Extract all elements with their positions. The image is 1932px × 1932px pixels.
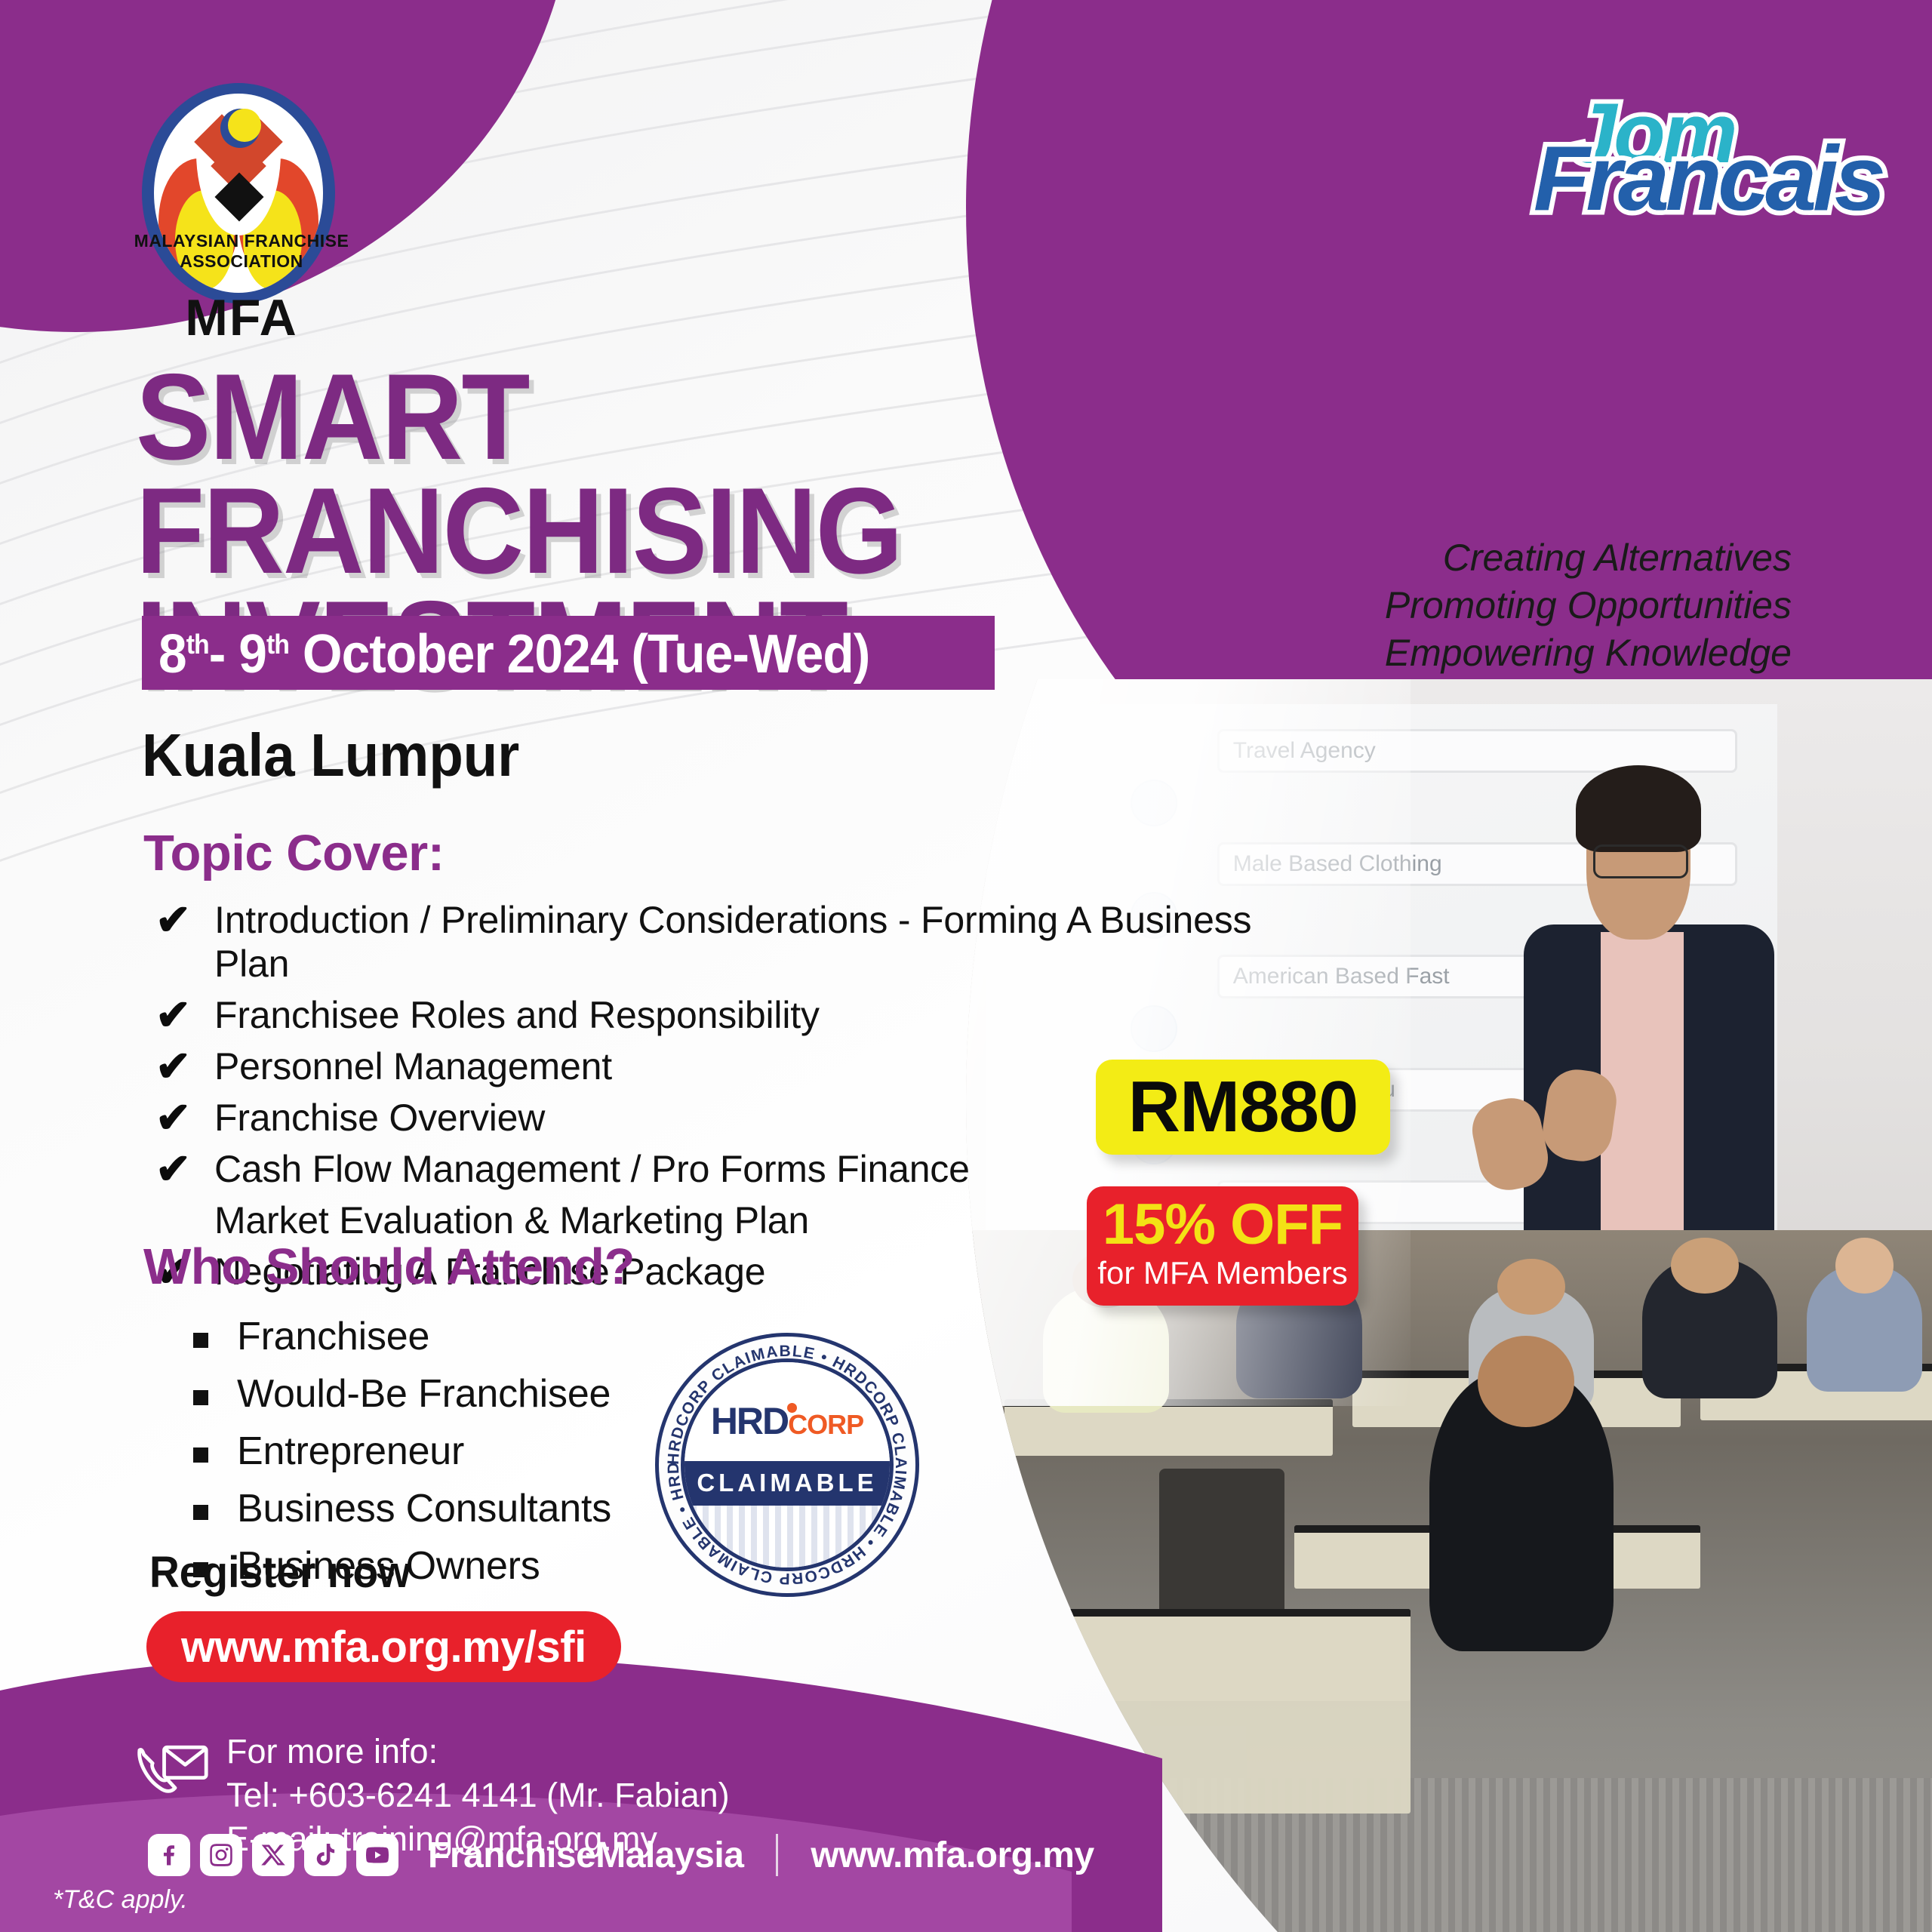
- contact-label: For more info:: [226, 1730, 730, 1774]
- topic-text: Franchise Overview: [214, 1096, 545, 1140]
- social-handle: FranchiseMalaysia: [428, 1835, 743, 1876]
- claimable-text: CLAIMABLE: [697, 1469, 877, 1497]
- price-badge: RM880: [1096, 1060, 1390, 1155]
- register-url-text: www.mfa.org.my/sfi: [181, 1622, 586, 1672]
- discount-headline: 15% OFF: [1087, 1194, 1358, 1256]
- mfa-association-name: MALAYSIAN FRANCHISE ASSOCIATION: [106, 231, 377, 272]
- terms-note: *T&C apply.: [53, 1885, 188, 1915]
- check-icon: ✔: [155, 993, 214, 1037]
- date-day-1: 8: [158, 624, 186, 685]
- discount-subtext: for MFA Members: [1087, 1256, 1358, 1291]
- square-bullet-icon: [193, 1371, 237, 1409]
- instagram-icon[interactable]: [200, 1834, 242, 1876]
- footer-divider: [776, 1834, 778, 1876]
- jom-francais-logo: Jom Jom Francais Francais: [1534, 85, 1888, 211]
- tiktok-icon[interactable]: [304, 1834, 346, 1876]
- square-bullet-icon: [193, 1428, 237, 1466]
- topic-text: Market Evaluation & Marketing Plan: [214, 1198, 809, 1242]
- organisation-tagline: Creating Alternatives Promoting Opportun…: [1385, 534, 1792, 677]
- contact-tel: Tel: +603-6241 4141 (Mr. Fabian): [226, 1774, 730, 1817]
- date-day-1-suffix: th: [186, 629, 209, 660]
- topic-text: Introduction / Preliminary Consideration…: [214, 898, 1257, 986]
- list-item: ✔Introduction / Preliminary Consideratio…: [155, 898, 1257, 986]
- facebook-icon[interactable]: [148, 1834, 190, 1876]
- phone-envelope-icon: [133, 1734, 214, 1807]
- square-bullet-icon: [193, 1313, 237, 1352]
- mfa-abbreviation: MFA: [106, 288, 377, 347]
- francais-text: Francais: [1534, 125, 1882, 231]
- tagline-line-3: Empowering Knowledge: [1385, 629, 1792, 677]
- list-item: ✔Personnel Management: [155, 1044, 1257, 1088]
- topic-cover-heading: Topic Cover:: [143, 824, 445, 882]
- hrd-text: HRD: [711, 1400, 788, 1442]
- attendee-text: Entrepreneur: [237, 1428, 464, 1475]
- event-city: Kuala Lumpur: [142, 721, 519, 790]
- list-item: ✔Cash Flow Management / Pro Forms Financ…: [155, 1147, 1257, 1191]
- youtube-icon[interactable]: [356, 1834, 398, 1876]
- topic-text: Cash Flow Management / Pro Forms Finance: [214, 1147, 970, 1191]
- who-should-attend-heading: Who Should Attend?: [143, 1238, 635, 1296]
- date-rest: October 2024 (Tue-Wed): [289, 624, 869, 685]
- list-item: ✔Franchisee Roles and Responsibility: [155, 993, 1257, 1037]
- x-twitter-icon[interactable]: [252, 1834, 294, 1876]
- date-day-2: 9: [238, 624, 266, 685]
- mfa-logo: MALAYSIAN FRANCHISE ASSOCIATION MFA: [106, 83, 377, 355]
- attendee-text: Business Consultants: [237, 1485, 611, 1532]
- topic-text: Personnel Management: [214, 1044, 612, 1088]
- date-separator: -: [209, 624, 226, 685]
- event-date-banner: 8th- 9th October 2024 (Tue-Wed): [142, 616, 995, 690]
- register-url-button[interactable]: www.mfa.org.my/sfi: [146, 1611, 621, 1682]
- list-item: ✔Franchise Overview: [155, 1096, 1257, 1140]
- tagline-line-2: Promoting Opportunities: [1385, 582, 1792, 629]
- attendee-text: Franchisee: [237, 1313, 429, 1360]
- price-amount: RM880: [1128, 1066, 1358, 1149]
- register-label: Register now: [149, 1547, 411, 1598]
- check-icon: ✔: [155, 1147, 214, 1191]
- poster-canvas: Travel Agency Male Based Clothing Americ…: [0, 0, 1932, 1932]
- check-icon: ✔: [155, 898, 214, 942]
- check-icon: ✔: [155, 1044, 214, 1088]
- social-links: FranchiseMalaysia www.mfa.org.my: [148, 1834, 1094, 1876]
- event-date-text: 8th- 9th October 2024 (Tue-Wed): [158, 623, 869, 685]
- title-line-1: SMART FRANCHISING: [136, 361, 1316, 588]
- footer-website[interactable]: www.mfa.org.my: [811, 1835, 1094, 1876]
- hrdcorp-claimable-badge: HRDCORP CLAIMABLE • HRDCORP CLAIMABLE • …: [655, 1333, 919, 1597]
- square-bullet-icon: [193, 1485, 237, 1524]
- event-photo: Travel Agency Male Based Clothing Americ…: [966, 679, 1932, 1932]
- corp-text: CORP: [788, 1409, 863, 1440]
- date-day-2-suffix: th: [266, 629, 289, 660]
- check-icon: ✔: [155, 1096, 214, 1140]
- attendee-text: Would-Be Franchisee: [237, 1371, 611, 1417]
- topic-text: Franchisee Roles and Responsibility: [214, 993, 820, 1037]
- tagline-line-1: Creating Alternatives: [1385, 534, 1792, 582]
- discount-badge: 15% OFF for MFA Members: [1087, 1186, 1358, 1306]
